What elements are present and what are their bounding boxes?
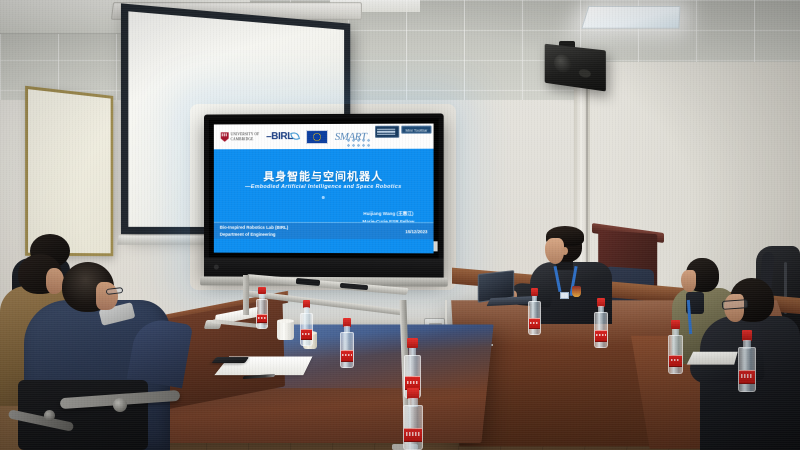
presentation-slide[interactable]: UNIVERSITY OF CAMBRIDGE –BIRL SMART [214, 124, 434, 254]
university-of-cambridge-logo: UNIVERSITY OF CAMBRIDGE [221, 132, 259, 142]
water-bottle[interactable] [256, 287, 268, 329]
seminar-room-photo: UNIVERSITY OF CAMBRIDGE –BIRL SMART [0, 0, 800, 450]
bottle-body [594, 312, 608, 348]
toolbar-line-icon [377, 133, 395, 134]
water-bottle[interactable] [300, 300, 313, 346]
smart-logo-dots-icon [346, 137, 372, 146]
cambridge-logo-line1: UNIVERSITY OF [231, 132, 260, 137]
slide-footer-date: 15/12/2023 [405, 229, 427, 234]
slide-mini-toolbar[interactable]: Mini ToolBar [375, 126, 431, 138]
presenter-ear [562, 247, 568, 255]
wall-mounted-display[interactable]: UNIVERSITY OF CAMBRIDGE –BIRL SMART [204, 113, 444, 277]
toolbar-line-icon [377, 129, 395, 130]
attendee-olive-jacket-face [681, 270, 696, 292]
slide-author-name: Huijiang Wang (王惠江) [362, 210, 414, 218]
smart-logo: SMART [335, 130, 367, 142]
presenter-badge [560, 292, 569, 299]
bottle-body [668, 335, 683, 374]
slide-footer-lab: Bio-Inspired Robotics Lab (BIRL) Departm… [220, 224, 288, 238]
bottle-label [341, 350, 353, 362]
bottle-body [256, 299, 268, 329]
attendee-glasses-eyewear [722, 299, 749, 310]
presenter-jacket-crest [572, 286, 581, 297]
bottle-cap [742, 330, 753, 341]
paper-cup-1 [277, 321, 294, 340]
bottle-label [257, 314, 267, 324]
bottle-label [529, 318, 540, 329]
bottle-body [738, 347, 756, 392]
slide-title: 具身智能与空间机器人 [214, 168, 434, 184]
screen-stand-post-left [243, 275, 249, 315]
water-bottle[interactable] [403, 388, 423, 450]
cambridge-crest-icon [221, 132, 229, 142]
slide-footer-lab-line2: Department of Engineering [220, 231, 288, 238]
bottle-label [404, 428, 422, 442]
bottle-body [300, 313, 313, 346]
slide-footer-bar: Bio-Inspired Robotics Lab (BIRL) Departm… [214, 222, 434, 239]
display-ir-receiver-icon [214, 265, 219, 270]
document-on-right-table [687, 352, 738, 365]
chair-adjustment-knob-secondary[interactable] [44, 410, 55, 421]
european-union-flag-logo [306, 129, 328, 143]
bottle-body [403, 405, 423, 450]
water-bottle[interactable] [340, 318, 354, 368]
bottle-cap [407, 388, 419, 399]
bottle-body [340, 332, 354, 368]
phone[interactable] [211, 357, 249, 363]
ceiling-light-panel [581, 6, 680, 29]
slide-bottom-strip [214, 239, 434, 254]
attendee-navy-blazer-face [96, 282, 118, 310]
bottle-body [528, 301, 541, 335]
toolbar-panel[interactable] [375, 126, 399, 138]
chair-adjustment-knob[interactable] [113, 398, 127, 412]
bottle-label [739, 370, 755, 384]
bottle-label [669, 355, 682, 368]
toolbar-line-icon [377, 131, 395, 132]
cambridge-logo-text: UNIVERSITY OF CAMBRIDGE [231, 132, 260, 141]
water-bottle[interactable] [594, 298, 608, 348]
display-chin [204, 258, 444, 278]
birl-logo: –BIRL [266, 131, 299, 142]
slide-bullet-dot-icon [322, 196, 324, 199]
toolbar-pill-label[interactable]: Mini ToolBar [401, 126, 431, 134]
water-bottle[interactable] [668, 320, 683, 374]
bottle-label [595, 330, 607, 342]
water-bottle[interactable] [528, 288, 541, 335]
cambridge-logo-line2: CAMBRIDGE [231, 137, 260, 142]
slide-subtitle: —Embodied Artificial Intelligence and Sp… [214, 184, 434, 190]
water-bottle[interactable] [738, 330, 756, 392]
framed-whiteboard [25, 86, 113, 256]
bottle-label [301, 329, 312, 340]
